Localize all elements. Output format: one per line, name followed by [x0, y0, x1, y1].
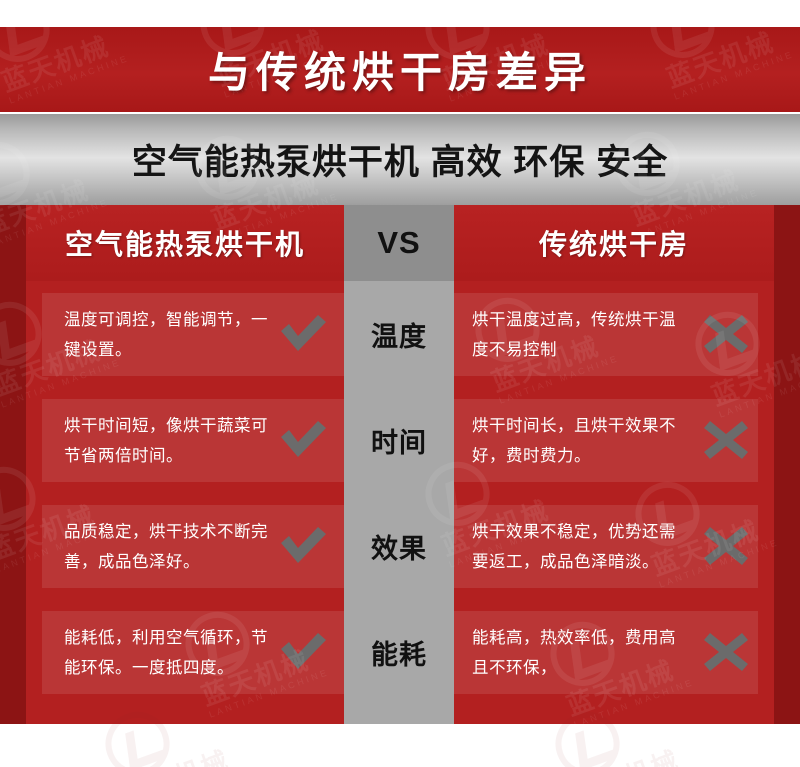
- check-icon: [277, 311, 329, 357]
- pro-text: 烘干时间短，像烘干蔬菜可节省两倍时间。: [64, 411, 282, 471]
- check-icon: [277, 523, 329, 569]
- con-text: 烘干效果不稳定，优势还需要返工，成品色泽暗淡。: [472, 517, 690, 577]
- page-title: 与传统烘干房差异: [208, 39, 592, 100]
- header-label-con: 传统烘干房: [539, 223, 689, 263]
- con-text: 烘干温度过高，传统烘干温度不易控制: [472, 305, 690, 365]
- comparison-table: VS 温度 时间 效果 能耗 空气能热泵烘干机: [0, 205, 800, 724]
- table-edge-left: [0, 205, 26, 724]
- criterion-label: 效果: [371, 527, 427, 566]
- pro-text: 品质稳定，烘干技术不断完善，成品色泽好。: [64, 517, 282, 577]
- infographic-page: 与传统烘干房差异 空气能热泵烘干机 高效 环保 安全 VS 温度 时间 效果: [0, 0, 800, 767]
- criterion-label: 温度: [371, 315, 427, 354]
- pro-text: 温度可调控，智能调节，一键设置。: [64, 305, 282, 365]
- criterion-cell: 能耗: [344, 599, 454, 705]
- footer-blank-area: [0, 724, 800, 767]
- subtitle-band: 空气能热泵烘干机 高效 环保 安全: [0, 114, 800, 205]
- vs-header-cell: VS: [344, 205, 454, 281]
- con-text: 烘干时间长，且烘干效果不好，费时费力。: [472, 411, 690, 471]
- table-edge-right: [774, 205, 800, 724]
- title-banner: 与传统烘干房差异: [0, 27, 800, 112]
- header-cell-con: 传统烘干房: [454, 205, 774, 281]
- cross-icon: [700, 629, 752, 675]
- subtitle-text: 空气能热泵烘干机 高效 环保 安全: [132, 134, 668, 185]
- check-icon: [277, 629, 329, 675]
- criterion-label: 时间: [371, 421, 427, 460]
- con-text: 能耗高，热效率低，费用高且不环保，: [472, 623, 690, 683]
- criterion-cell: 时间: [344, 387, 454, 493]
- header-label-pro: 空气能热泵烘干机: [65, 223, 305, 263]
- cross-icon: [700, 523, 752, 569]
- cross-icon: [700, 311, 752, 357]
- header-cell-pro: 空气能热泵烘干机: [26, 205, 344, 281]
- criterion-cell: 效果: [344, 493, 454, 599]
- check-icon: [277, 417, 329, 463]
- vs-label: VS: [377, 225, 420, 261]
- criterion-label: 能耗: [371, 633, 427, 672]
- cross-icon: [700, 417, 752, 463]
- pro-text: 能耗低，利用空气循环，节能环保。一度抵四度。: [64, 623, 282, 683]
- criteria-column: VS 温度 时间 效果 能耗: [344, 205, 454, 724]
- criterion-cell: 温度: [344, 281, 454, 387]
